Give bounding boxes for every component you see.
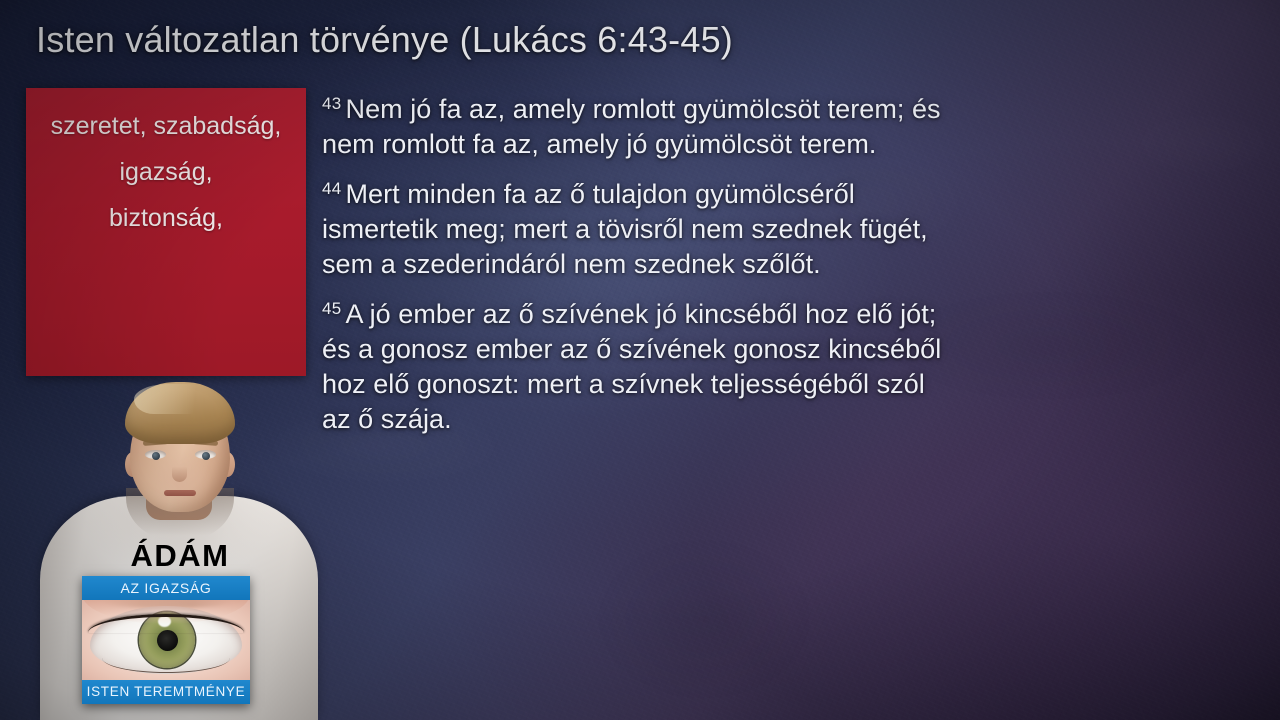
presenter-mouth [164, 490, 196, 496]
verse-number-44: 44 [322, 179, 346, 198]
scripture-body: 43Nem jó fa az, amely romlott gyümölcsöt… [322, 86, 952, 446]
presenter-name-label: ÁDÁM [30, 538, 330, 574]
presentation-slide: Isten változatlan törvénye (Lukács 6:43-… [0, 0, 1280, 720]
presenter-hair-highlight [134, 384, 218, 414]
slide-title: Isten változatlan törvénye (Lukács 6:43-… [36, 18, 1186, 62]
keyword-item-2: igazság, [40, 149, 292, 195]
verse-44: 44Mert minden fa az ő tulajdon gyümölcsé… [322, 171, 952, 282]
verse-number-45: 45 [322, 299, 346, 318]
book-title-bar: AZ IGAZSÁG [82, 576, 250, 600]
keyword-item-3: biztonság, [40, 195, 292, 241]
verse-text-45: A jó ember az ő szívének jó kincséből ho… [322, 299, 941, 434]
verse-number-43: 43 [322, 94, 346, 113]
presenter-nose [172, 460, 187, 482]
verse-text-43: Nem jó fa az, amely romlott gyümölcsöt t… [322, 94, 941, 159]
keywords-panel: szeretet, szabadság, igazság, biztonság, [26, 88, 306, 376]
verse-45: 45A jó ember az ő szívének jó kincséből … [322, 291, 952, 437]
presenter-right-pupil [202, 452, 210, 460]
verse-text-44: Mert minden fa az ő tulajdon gyümölcsérő… [322, 179, 928, 279]
keyword-item-1: szeretet, szabadság, [40, 104, 292, 149]
book-subtitle-bar: ISTEN TEREMTMÉNYE [82, 680, 250, 704]
eye-pupil [157, 630, 178, 651]
book-cover: AZ IGAZSÁG ISTEN TEREMTMÉNYE [82, 576, 250, 704]
presenter-left-pupil [152, 452, 160, 460]
eye-lower-lashes [102, 658, 230, 673]
verse-43: 43Nem jó fa az, amely romlott gyümölcsöt… [322, 86, 952, 162]
